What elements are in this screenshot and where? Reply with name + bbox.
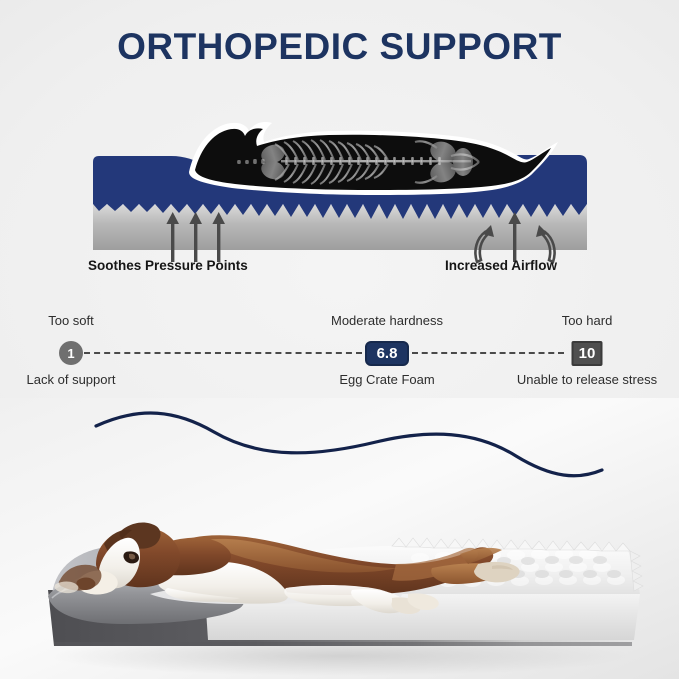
scale-top-label-too-hard: Too hard [562, 313, 613, 328]
scale-bottom-label-egg-crate-foam: Egg Crate Foam [339, 372, 434, 387]
increased-airflow-label: Increased Airflow [445, 258, 557, 273]
scale-dashed-segment-right [412, 352, 564, 354]
page-title: ORTHOPEDIC SUPPORT [0, 26, 679, 68]
scale-dashed-segment-left [84, 352, 362, 354]
scale-top-label-moderate: Moderate hardness [331, 313, 443, 328]
scale-marker-min[interactable]: 1 [59, 341, 83, 365]
soothes-pressure-points-label: Soothes Pressure Points [88, 258, 248, 273]
bed-base-bottom-edge [54, 642, 632, 646]
scale-marker-current[interactable]: 6.8 [365, 341, 409, 366]
foam-diagram-svg [85, 100, 595, 280]
product-photo-svg [0, 398, 679, 679]
product-photo [0, 398, 679, 679]
scale-bottom-label-unable-to-release-stress: Unable to release stress [517, 372, 657, 387]
infographic-page: ORTHOPEDIC SUPPORT [0, 0, 679, 679]
scale-bottom-label-lack-of-support: Lack of support [27, 372, 116, 387]
scale-top-label-too-soft: Too soft [48, 313, 94, 328]
hardness-scale: Too soft Moderate hardness Too hard 1 6.… [0, 305, 679, 395]
scale-marker-max[interactable]: 10 [572, 341, 603, 366]
foam-cross-section-diagram [85, 100, 595, 280]
